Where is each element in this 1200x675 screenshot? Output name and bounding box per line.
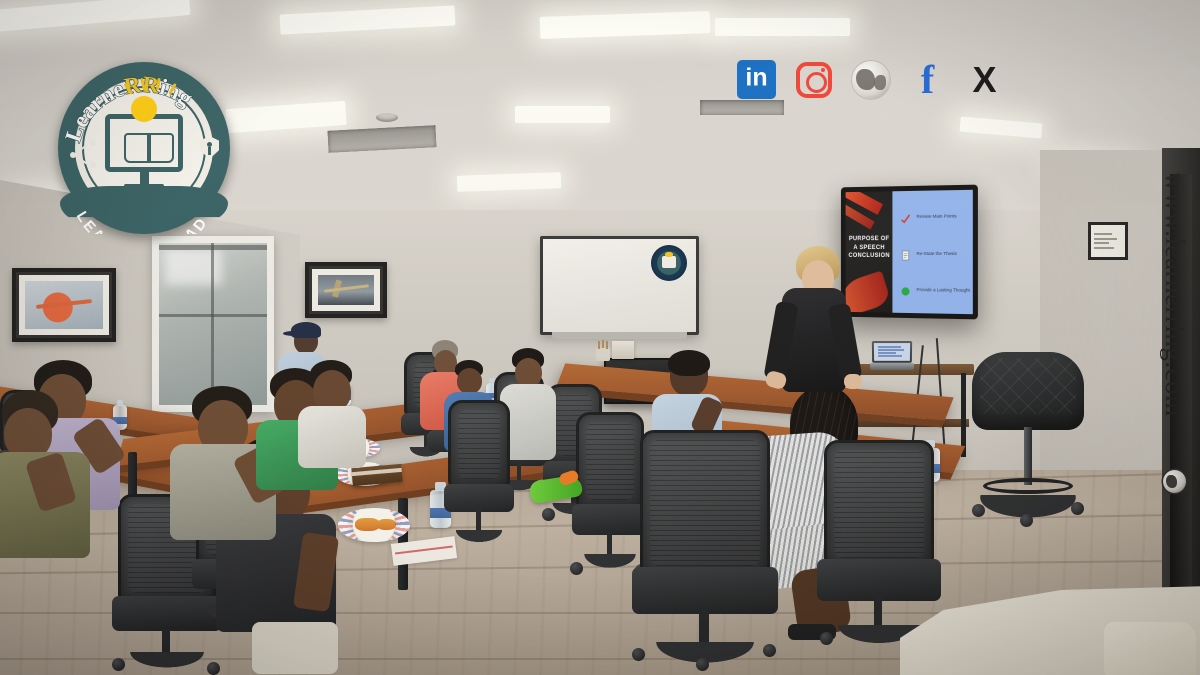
paper-plate: [338, 508, 410, 542]
navy-cap: [291, 322, 321, 338]
instagram-icon[interactable]: [792, 58, 835, 101]
slide-bullet: Review Main Points: [900, 210, 957, 222]
classroom-photo: PURPOSE OF A SPEECH CONCLUSION Review Ma…: [0, 0, 1200, 675]
globe-icon[interactable]: [849, 58, 892, 101]
logo-ribbon: LEARN TO LEAD: [54, 180, 234, 234]
facebook-glyph: f: [921, 60, 934, 100]
x-glyph: X: [972, 62, 996, 98]
wall-mounted-television: PURPOSE OF A SPEECH CONCLUSION Review Ma…: [841, 185, 978, 320]
checkmark-icon: [900, 210, 911, 221]
presenter: [768, 246, 860, 422]
website-url-watermark: www.learnerring.com: [1159, 172, 1190, 417]
slide-bullet-text: Re-State the Thesis: [916, 251, 956, 256]
document-icon: [900, 248, 911, 259]
slide-bullet-text: Provide a Lasting Thought: [916, 287, 970, 293]
ceiling-vent: [700, 100, 784, 115]
slide-screen: PURPOSE OF A SPEECH CONCLUSION Review Ma…: [846, 190, 973, 314]
student-olive-jacket: [0, 390, 96, 560]
pencil-cup: [596, 348, 610, 361]
linkedin-icon[interactable]: [735, 58, 778, 101]
monitor-icon: [105, 114, 183, 172]
globe-icon: [1163, 470, 1186, 493]
ceiling-light-panel: [225, 101, 346, 133]
sun-icon: [131, 96, 157, 122]
svg-text:LEARN TO LEAD: LEARN TO LEAD: [73, 208, 212, 234]
slide-bullet: Re-State the Thesis: [900, 248, 957, 259]
learnerring-logo-sticker: [651, 245, 687, 281]
ceiling-light-panel: [960, 116, 1043, 138]
ceiling-light-panel: [0, 0, 191, 33]
logo-text-part3: ing: [157, 74, 198, 111]
ceiling-light-panel: [540, 11, 711, 39]
social-icon-bar: f X: [735, 58, 1006, 101]
smoke-detector-icon: [376, 113, 398, 122]
facebook-icon[interactable]: f: [906, 58, 949, 101]
network-nodes-icon: [70, 140, 96, 170]
green-dot-icon: [900, 284, 911, 295]
x-twitter-icon[interactable]: X: [963, 58, 1006, 101]
mesh-office-chair[interactable]: [640, 430, 770, 666]
mesh-office-chair[interactable]: [448, 400, 510, 544]
slide-bullets-panel: Review Main Points Re-State the Thesis P…: [893, 190, 973, 314]
slide-bullet: Provide a Lasting Thought: [900, 284, 970, 296]
slide-bullet-text: Review Main Points: [916, 213, 956, 218]
student-white-shirt: [298, 360, 368, 466]
presenter-hand: [844, 374, 862, 389]
ceiling-light-panel: [715, 18, 850, 36]
framed-certificate: [1088, 222, 1128, 260]
ceiling-light-panel: [457, 172, 561, 192]
whiteboard: [540, 236, 699, 335]
ceiling-light-panel: [280, 5, 456, 34]
tissue-box: [612, 341, 634, 359]
logo-tagline: LEARN TO LEAD: [73, 208, 212, 234]
ceiling-vent: [327, 125, 436, 153]
framed-photo-helicopter: [12, 268, 116, 342]
mesh-office-chair[interactable]: [576, 412, 644, 570]
learnerring-logo-badge: LearneRRing LEARN TO LEAD: [58, 62, 230, 234]
ceiling-light-panel: [515, 106, 610, 123]
mesh-office-chair[interactable]: [824, 440, 934, 646]
open-book-icon: [124, 133, 174, 163]
framed-photo-osprey: [305, 262, 387, 318]
drafting-stool[interactable]: [972, 352, 1084, 522]
laptop[interactable]: [872, 341, 912, 371]
